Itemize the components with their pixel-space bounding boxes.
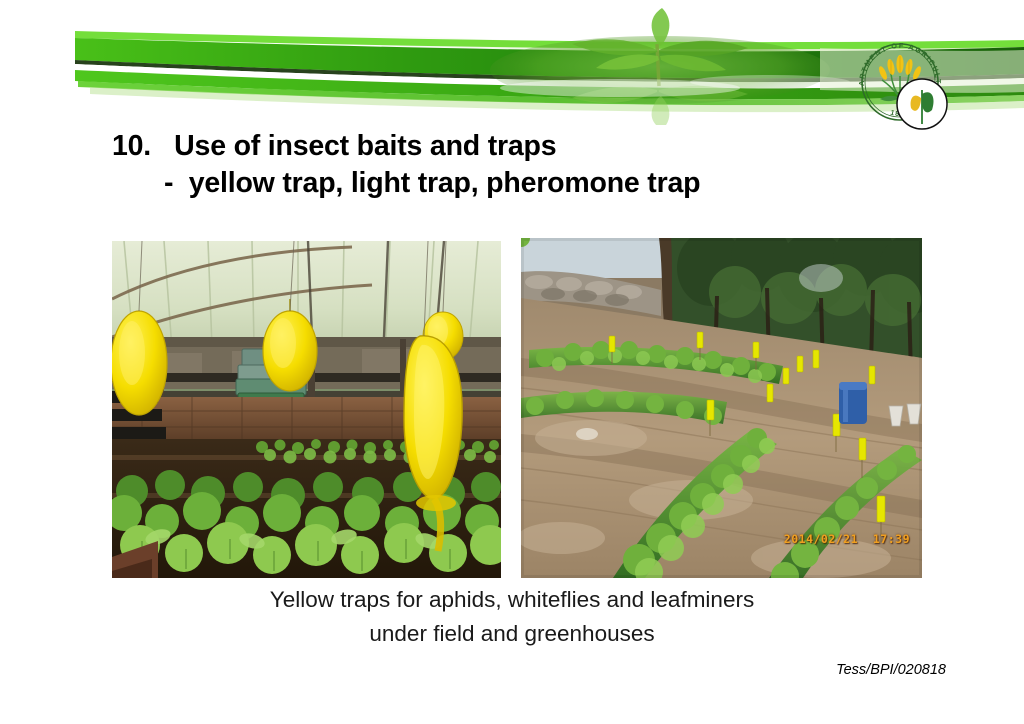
caption-line-1: Yellow traps for aphids, whiteflies and …	[0, 583, 1024, 617]
camera-timestamp: 2014/02/21 17:39	[784, 532, 910, 546]
title-line-2: - yellow trap, light trap, pheromone tra…	[112, 165, 912, 202]
photo-caption: Yellow traps for aphids, whiteflies and …	[0, 583, 1024, 651]
yellow-trap-left	[112, 311, 167, 415]
slide-title: 10. Use of insect baits and traps - yell…	[112, 128, 912, 202]
presentation-slide: DEPARTMENT OF AGRICULTURE 1898	[0, 0, 1024, 724]
greenhouse-yellow-traps-photo	[112, 241, 501, 578]
department-of-agriculture-seal: DEPARTMENT OF AGRICULTURE 1898	[846, 28, 954, 136]
blue-barrel	[839, 382, 867, 424]
field-yellow-traps-photo: 2014/02/21 17:39	[521, 238, 922, 578]
caption-line-2: under field and greenhouses	[0, 617, 1024, 651]
footer-attribution: Tess/BPI/020818	[836, 662, 946, 678]
seal-leaf-medallion	[897, 79, 947, 129]
title-line-1: 10. Use of insect baits and traps	[112, 128, 912, 165]
